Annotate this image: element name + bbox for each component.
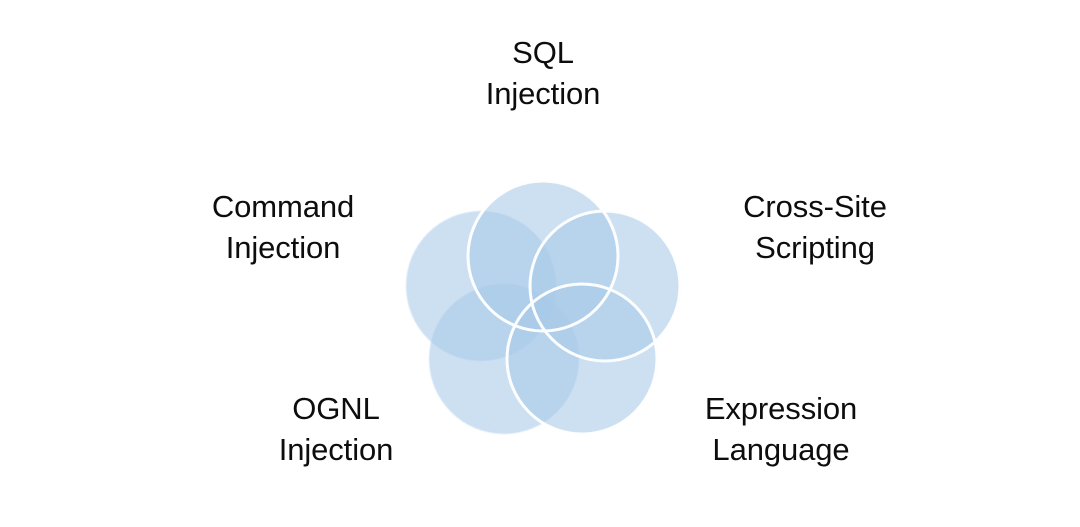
venn-label-expression-language: Expression Language (656, 388, 906, 470)
venn-label-sql-injection: SQL Injection (413, 32, 673, 114)
venn-label-command-injection: Command Injection (168, 186, 398, 268)
venn-label-ognl-injection: OGNL Injection (226, 388, 446, 470)
venn-label-cross-site-scripting: Cross-Site Scripting (690, 186, 940, 268)
venn-figure: SQL Injection Command Injection Cross-Si… (0, 0, 1080, 527)
